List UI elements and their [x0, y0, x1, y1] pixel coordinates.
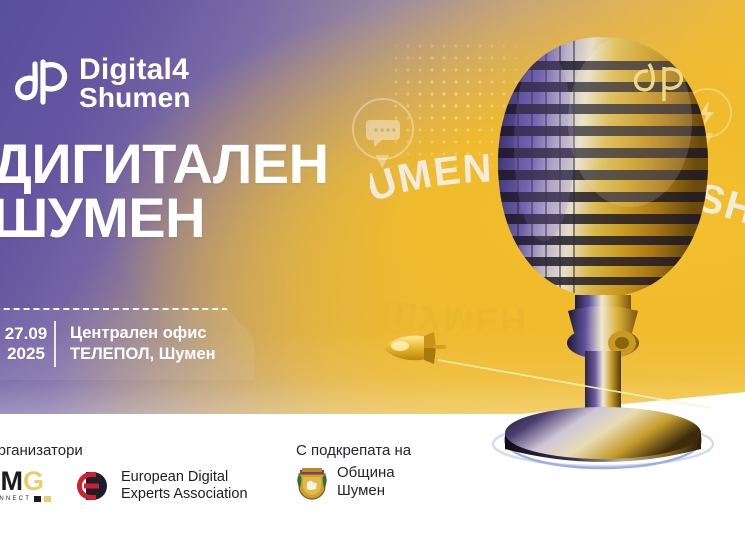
shumen-coat-of-arms-icon: [296, 464, 328, 500]
organizers-label: Организатори: [0, 442, 83, 459]
headline-line1: ДИГИТАЛЕН: [0, 137, 329, 191]
info-divider: [54, 321, 56, 367]
img-connect-logo: IM G CONNECT: [0, 468, 58, 504]
event-date-year: 2025: [2, 344, 50, 364]
img-connect-sub: CONNECT: [0, 496, 31, 502]
chat-bubble-icon: [354, 100, 412, 158]
event-venue-line1: Централен офис: [70, 323, 216, 344]
brand-logo-line2: Shumen: [79, 84, 191, 111]
event-venue-line2: ТЕЛЕПОЛ, Шумен: [70, 344, 216, 365]
edea-logo-icon: [72, 469, 114, 503]
poster-footer: Организатори IM G CONNECT: [0, 424, 745, 559]
img-connect-mark-gold: G: [23, 468, 43, 495]
img-connect-mark-dark: IM: [0, 468, 22, 495]
brand-logo-text: Digital4 Shumen: [79, 55, 191, 112]
event-date: 27.09 2025: [0, 324, 50, 365]
edea-line1: European Digital: [121, 469, 248, 486]
supported-by-label: С подкрепата на: [296, 442, 411, 459]
supporter-name: Община Шумен: [337, 464, 395, 500]
edea-logo-text: European Digital Experts Association: [121, 469, 248, 503]
supporter-line2: Шумен: [337, 482, 395, 500]
chat-bubble-decoration: [352, 98, 414, 160]
event-info-content: 27.09 2025 Централен офис ТЕЛЕПОЛ, Шумен: [0, 308, 254, 380]
organizer-logos: IM G CONNECT European Digital Expert: [0, 468, 248, 504]
brand-logo-line1: Digital4: [79, 55, 191, 84]
page-title: ДИГИТАЛЕН ШУМЕН: [0, 137, 329, 246]
edea-line2: Experts Association: [121, 486, 248, 503]
supporter-block: Община Шумен: [296, 464, 395, 500]
dp-monogram-icon: [8, 52, 70, 114]
edea-logo: European Digital Experts Association: [72, 469, 248, 503]
rocket-icon: [380, 330, 450, 366]
retro-microphone-icon: [472, 25, 734, 480]
event-venue: Централен офис ТЕЛЕПОЛ, Шумен: [70, 323, 216, 364]
brand-logo: Digital4 Shumen: [8, 52, 191, 114]
event-poster: UMEN DIGITAL4SH ШУМЕН: [0, 0, 745, 559]
headline-line2: ШУМЕН: [0, 191, 329, 245]
event-date-day: 27.09: [2, 324, 50, 344]
supporter-line1: Община: [337, 464, 395, 482]
